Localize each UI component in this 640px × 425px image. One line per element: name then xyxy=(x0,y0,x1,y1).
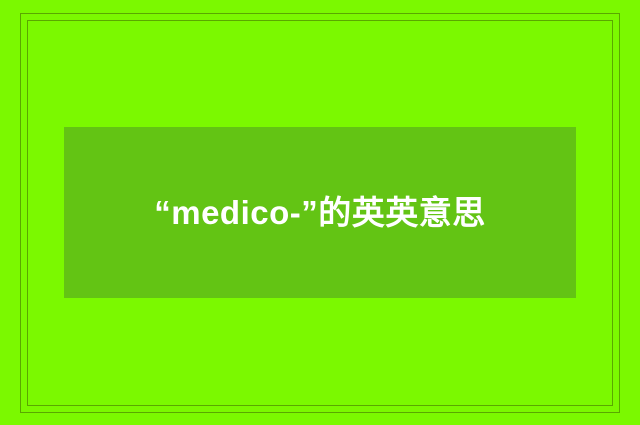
image-card: “medico-”的英英意思 xyxy=(0,0,640,425)
page-title: “medico-”的英英意思 xyxy=(126,184,514,242)
title-plate: “medico-”的英英意思 xyxy=(64,127,576,298)
